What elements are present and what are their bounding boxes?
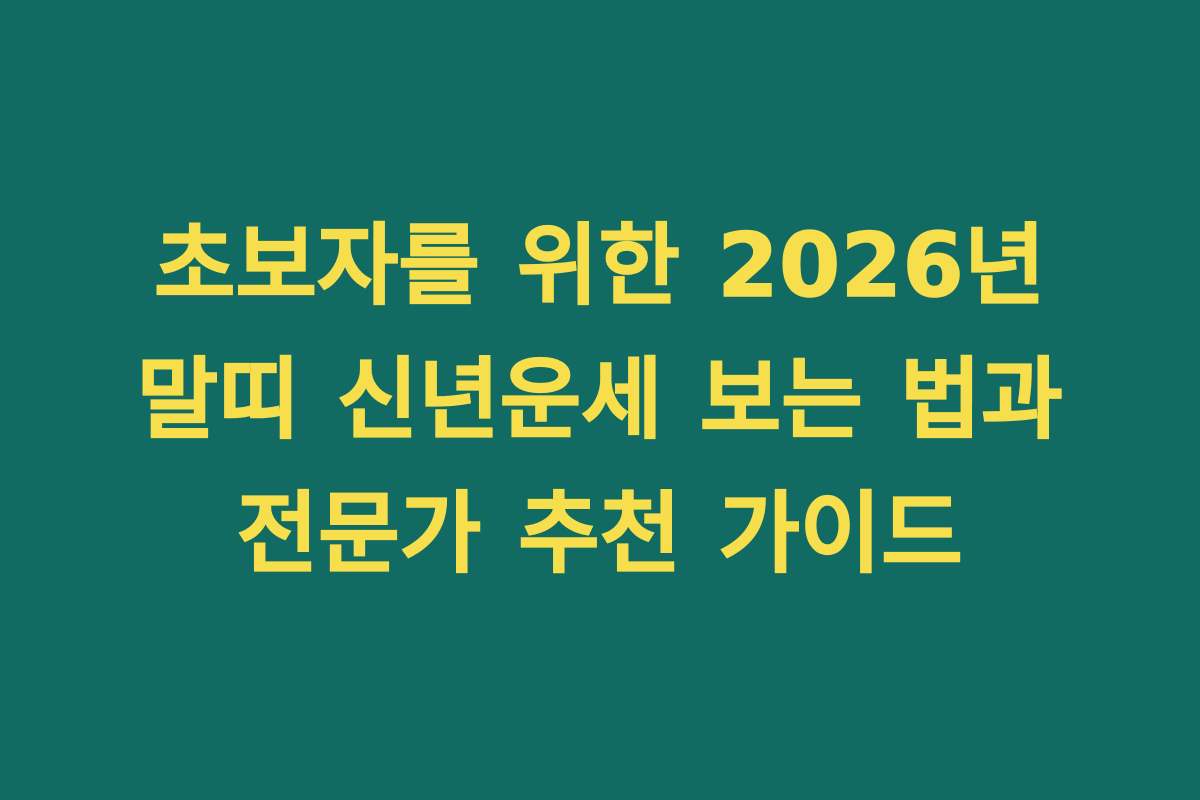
headline-line-3: 전문가 추천 가이드 bbox=[30, 467, 1170, 601]
headline-line-2: 말띠 신년운세 보는 법과 bbox=[30, 333, 1170, 467]
page-title: 초보자를 위한 2026년 말띠 신년운세 보는 법과 전문가 추천 가이드 bbox=[30, 199, 1170, 601]
headline-line-1: 초보자를 위한 2026년 bbox=[30, 199, 1170, 333]
title-card: 초보자를 위한 2026년 말띠 신년운세 보는 법과 전문가 추천 가이드 bbox=[0, 0, 1200, 800]
